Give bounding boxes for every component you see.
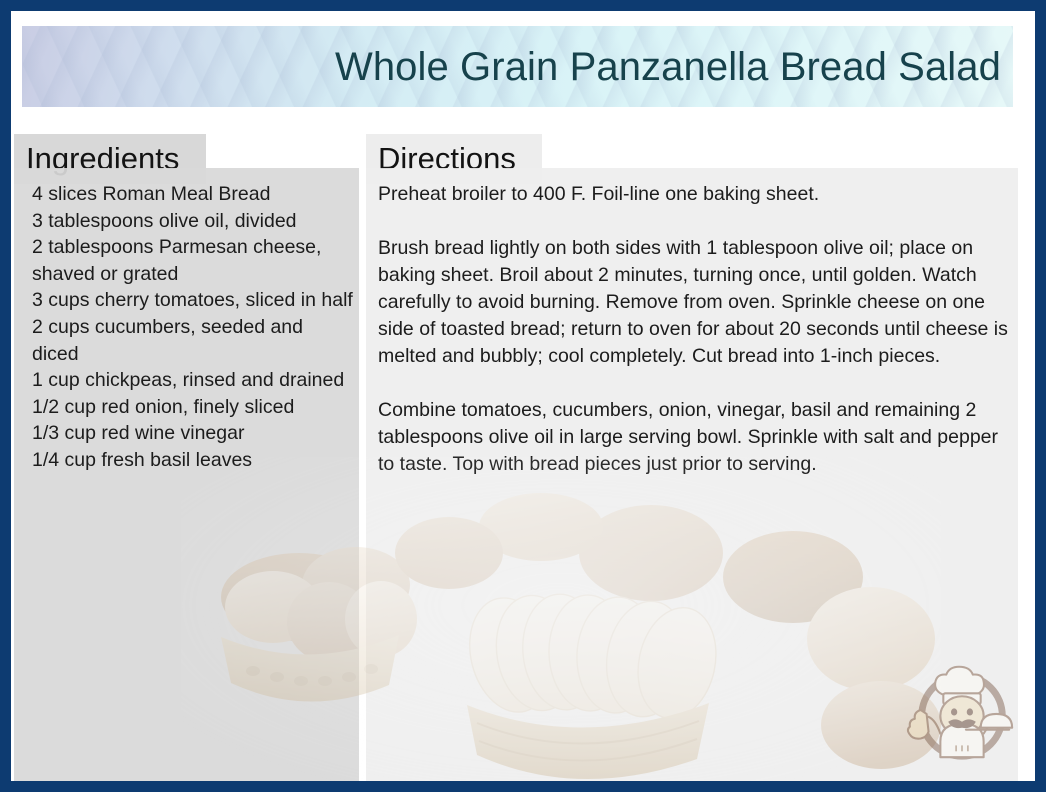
directions-paragraph: Preheat broiler to 400 F. Foil-line one … [378,181,1010,208]
chef-mascot-logo [903,651,1021,769]
cloche-icon [981,714,1012,728]
list-item: 1 cup chickpeas, rinsed and drained [32,367,354,394]
ingredients-list: 4 slices Roman Meal Bread 3 tablespoons … [32,181,354,474]
recipe-card: Whole Grain Panzanella Bread Salad Ingre… [0,0,1046,792]
recipe-page: Whole Grain Panzanella Bread Salad Ingre… [11,11,1035,781]
directions-paragraph: Combine tomatoes, cucumbers, onion, vine… [378,397,1010,478]
chef-figure [908,667,1012,757]
ingredients-panel: 4 slices Roman Meal Bread 3 tablespoons … [14,168,359,781]
directions-text: Preheat broiler to 400 F. Foil-line one … [378,181,1010,478]
list-item: 1/2 cup red onion, finely sliced [32,394,354,421]
waving-hand-icon [908,710,929,739]
list-item: 1/3 cup red wine vinegar [32,420,354,447]
list-item: 2 cups cucumbers, seeded and diced [32,314,354,367]
list-item: 1/4 cup fresh basil leaves [32,447,354,474]
directions-paragraph: Brush bread lightly on both sides with 1… [378,235,1010,370]
title-banner: Whole Grain Panzanella Bread Salad [22,26,1013,107]
page-title: Whole Grain Panzanella Bread Salad [335,45,1001,89]
list-item: 3 cups cherry tomatoes, sliced in half [32,287,354,314]
chef-hat-icon [935,667,984,695]
list-item: 3 tablespoons olive oil, divided [32,208,354,235]
list-item: 4 slices Roman Meal Bread [32,181,354,208]
list-item: 2 tablespoons Parmesan cheese, shaved or… [32,234,354,287]
